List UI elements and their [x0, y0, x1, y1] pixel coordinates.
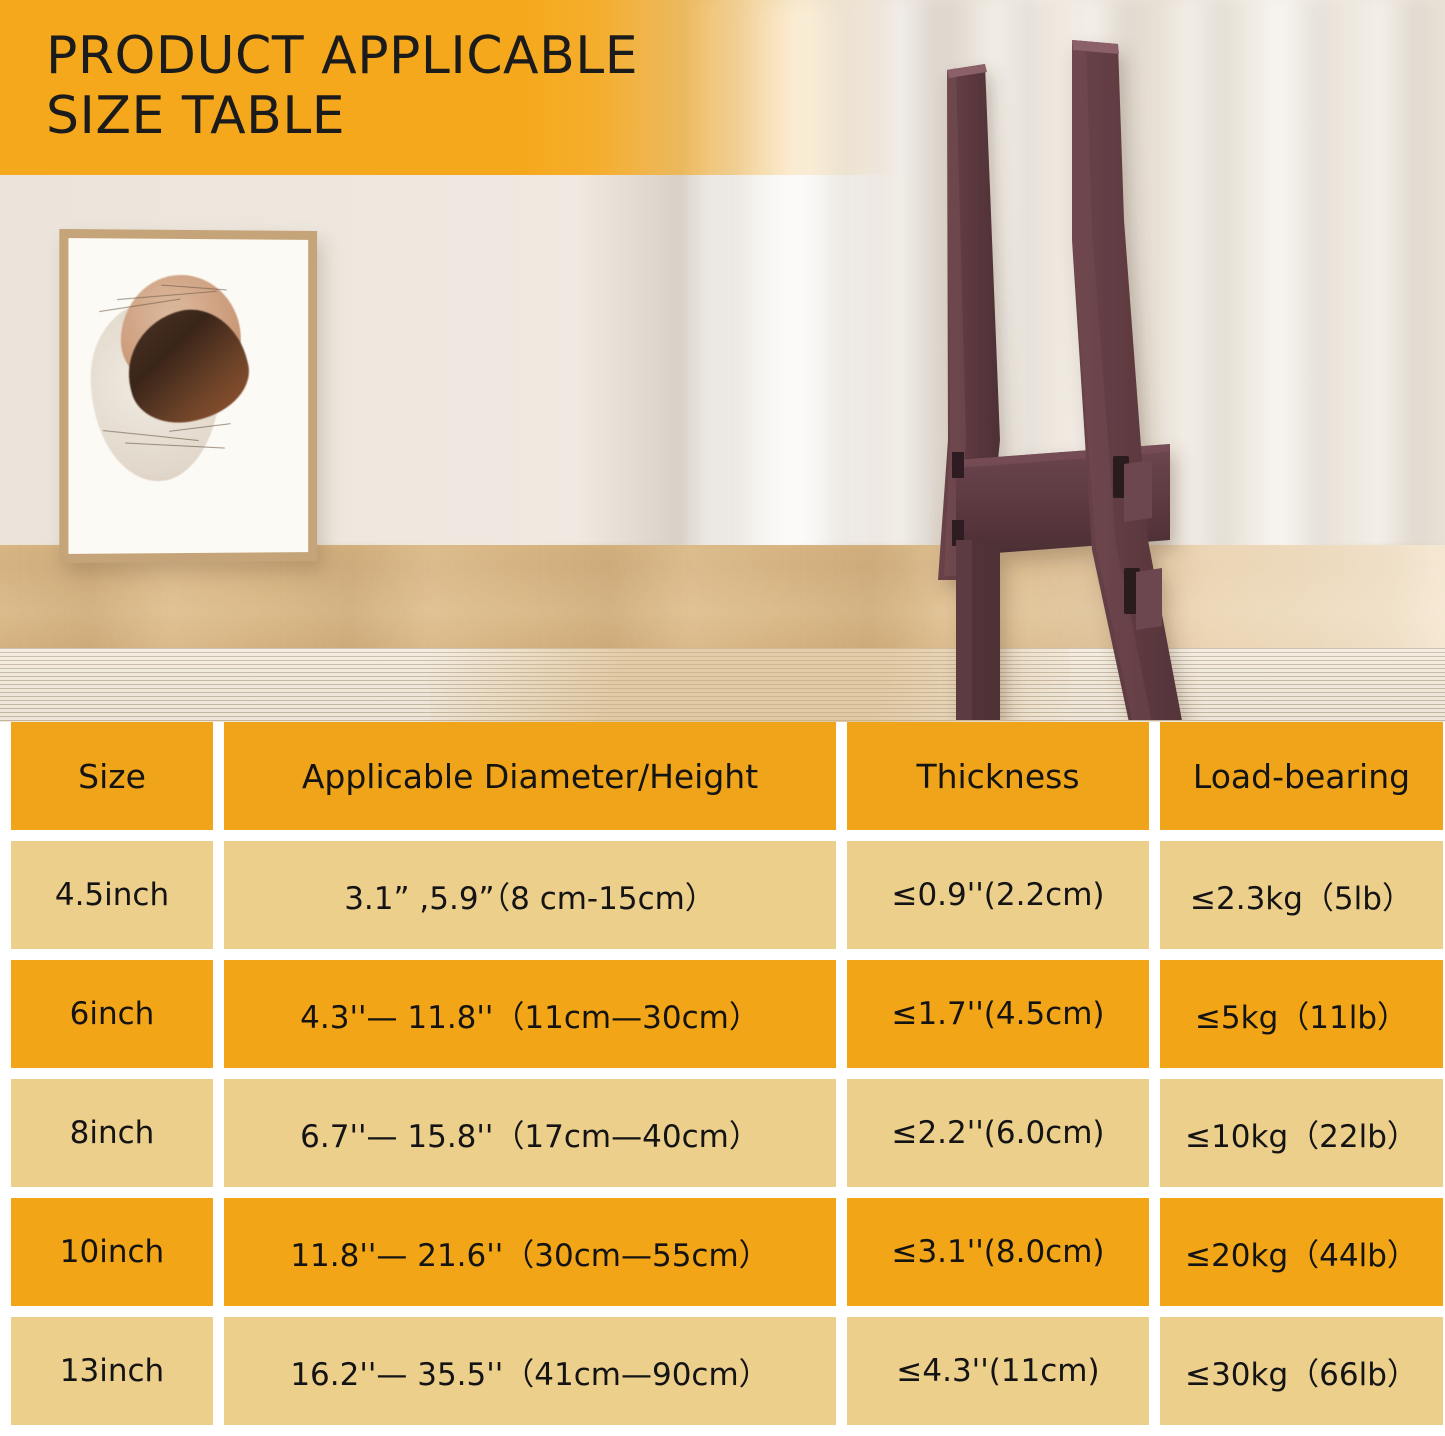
cell-thickness: ≤1.7''(4.5cm)	[847, 960, 1149, 1068]
cell-size: 10inch	[11, 1198, 213, 1306]
cell-load-bearing: ≤10kg（22lb）	[1160, 1079, 1443, 1187]
cell-load-bearing: ≤30kg（66lb）	[1160, 1317, 1443, 1425]
cell-diameter-height: 3.1” ,5.9”（8 cm-15cm）	[224, 841, 836, 949]
cell-size: 13inch	[11, 1317, 213, 1425]
column-header-thickness: Thickness	[847, 722, 1149, 830]
size-spec-table: Size Applicable Diameter/Height Thicknes…	[0, 722, 1445, 1436]
cell-thickness: ≤4.3''(11cm)	[847, 1317, 1149, 1425]
headline-banner: PRODUCT APPLICABLE SIZE TABLE	[0, 0, 900, 175]
cell-load-bearing: ≤20kg（44lb）	[1160, 1198, 1443, 1306]
product-lifestyle-photo: PRODUCT APPLICABLE SIZE TABLE	[0, 0, 1445, 722]
stand-left-diagonal-strut	[782, 540, 1000, 720]
table-row: 8inch 6.7''— 15.8''（17cm—40cm） ≤2.2''(6.…	[0, 1079, 1445, 1198]
cell-thickness: ≤2.2''(6.0cm)	[847, 1079, 1149, 1187]
cell-size: 6inch	[11, 960, 213, 1068]
cell-load-bearing: ≤5kg（11lb）	[1160, 960, 1443, 1068]
page-title: PRODUCT APPLICABLE SIZE TABLE	[46, 26, 866, 146]
column-header-diameter-height: Applicable Diameter/Height	[224, 722, 836, 830]
cell-size: 8inch	[11, 1079, 213, 1187]
art-canvas	[68, 238, 308, 554]
cell-thickness: ≤0.9''(2.2cm)	[847, 841, 1149, 949]
table-row: 4.5inch 3.1” ,5.9”（8 cm-15cm） ≤0.9''(2.2…	[0, 841, 1445, 960]
table-row: 6inch 4.3''— 11.8''（11cm—30cm） ≤1.7''(4.…	[0, 960, 1445, 1079]
cell-diameter-height: 6.7''— 15.8''（17cm—40cm）	[224, 1079, 836, 1187]
cell-size: 4.5inch	[11, 841, 213, 949]
column-header-size: Size	[11, 722, 213, 830]
table-row: 10inch 11.8''— 21.6''（30cm—55cm） ≤3.1''(…	[0, 1198, 1445, 1317]
cell-diameter-height: 4.3''— 11.8''（11cm—30cm）	[224, 960, 836, 1068]
table-header-row: Size Applicable Diameter/Height Thicknes…	[0, 722, 1445, 841]
cell-diameter-height: 11.8''— 21.6''（30cm—55cm）	[224, 1198, 836, 1306]
table-row: 13inch 16.2''— 35.5''（41cm—90cm） ≤4.3''(…	[0, 1317, 1445, 1436]
framed-art-print	[59, 229, 317, 563]
cell-load-bearing: ≤2.3kg（5lb）	[1160, 841, 1443, 949]
cell-thickness: ≤3.1''(8.0cm)	[847, 1198, 1149, 1306]
column-header-load-bearing: Load-bearing	[1160, 722, 1443, 830]
cell-diameter-height: 16.2''— 35.5''（41cm—90cm）	[224, 1317, 836, 1425]
